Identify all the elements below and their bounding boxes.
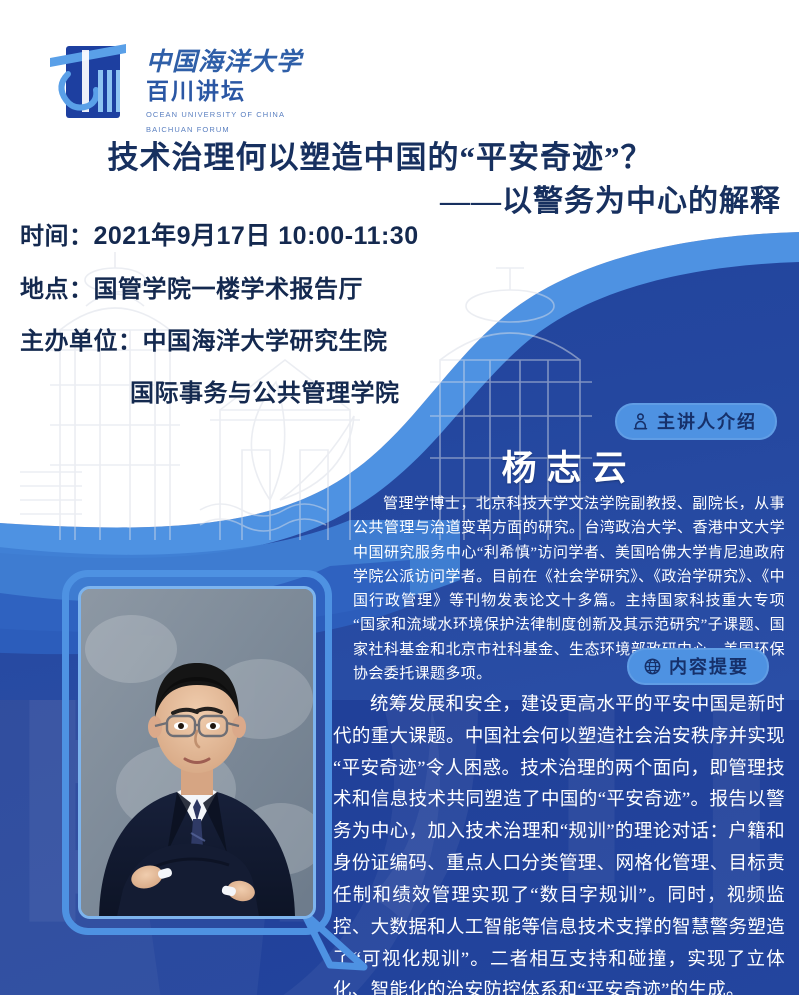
logo-name-cn: 中国海洋大学 <box>146 50 302 76</box>
info-label-place: 地点： <box>20 277 94 303</box>
info-label-host: 主办单位： <box>20 329 143 355</box>
info-row-host: 主办单位：中国海洋大学研究生院 <box>20 321 500 356</box>
logo-forum-cn: 百川讲坛 <box>146 78 302 106</box>
speaker-badge-label: 主讲人介绍 <box>657 408 757 434</box>
person-icon <box>631 412 650 431</box>
logo-name-en-line1: OCEAN UNIVERSITY OF CHINA <box>146 110 302 121</box>
bubble-tail-icon <box>300 909 370 971</box>
poster-title: 技术治理何以塑造中国的“平安奇迹”？ <box>0 132 760 177</box>
speaker-portrait-bubble <box>62 570 332 935</box>
info-value-place: 国管学院一楼学术报告厅 <box>94 277 364 303</box>
info-row-host-2: 国际事务与公共管理学院 <box>20 373 500 408</box>
info-label-time: 时间： <box>20 224 94 250</box>
info-value-host-1: 中国海洋大学研究生院 <box>143 329 388 355</box>
speaker-portrait <box>81 589 313 916</box>
speaker-section-badge: 主讲人介绍 <box>615 403 777 440</box>
speaker-name: 杨志云 <box>369 440 769 491</box>
info-row-time: 时间：2021年9月17日 10:00-11:30 <box>20 216 500 252</box>
event-info-block: 时间：2021年9月17日 10:00-11:30 地点：国管学院一楼学术报告厅… <box>20 216 500 425</box>
abstract-badge-label: 内容提要 <box>669 653 749 679</box>
brand-logo: 中国海洋大学 百川讲坛 OCEAN UNIVERSITY OF CHINA BA… <box>48 34 302 136</box>
info-value-host-2: 国际事务与公共管理学院 <box>130 381 400 407</box>
baichuan-logo-icon <box>48 34 134 118</box>
info-row-place: 地点：国管学院一楼学术报告厅 <box>20 269 500 304</box>
globe-icon <box>643 657 662 676</box>
poster-root: 百川 <box>0 0 799 995</box>
poster-subtitle: ——以警务为中心的解释 <box>440 176 781 220</box>
portrait-frame <box>78 586 316 919</box>
abstract-section-badge: 内容提要 <box>627 648 769 685</box>
abstract-text: 统筹发展和安全，建设更高水平的平安中国是新时代的重大课题。中国社会何以塑造社会治… <box>333 690 785 995</box>
info-value-time: 2021年9月17日 10:00-11:30 <box>94 222 419 250</box>
